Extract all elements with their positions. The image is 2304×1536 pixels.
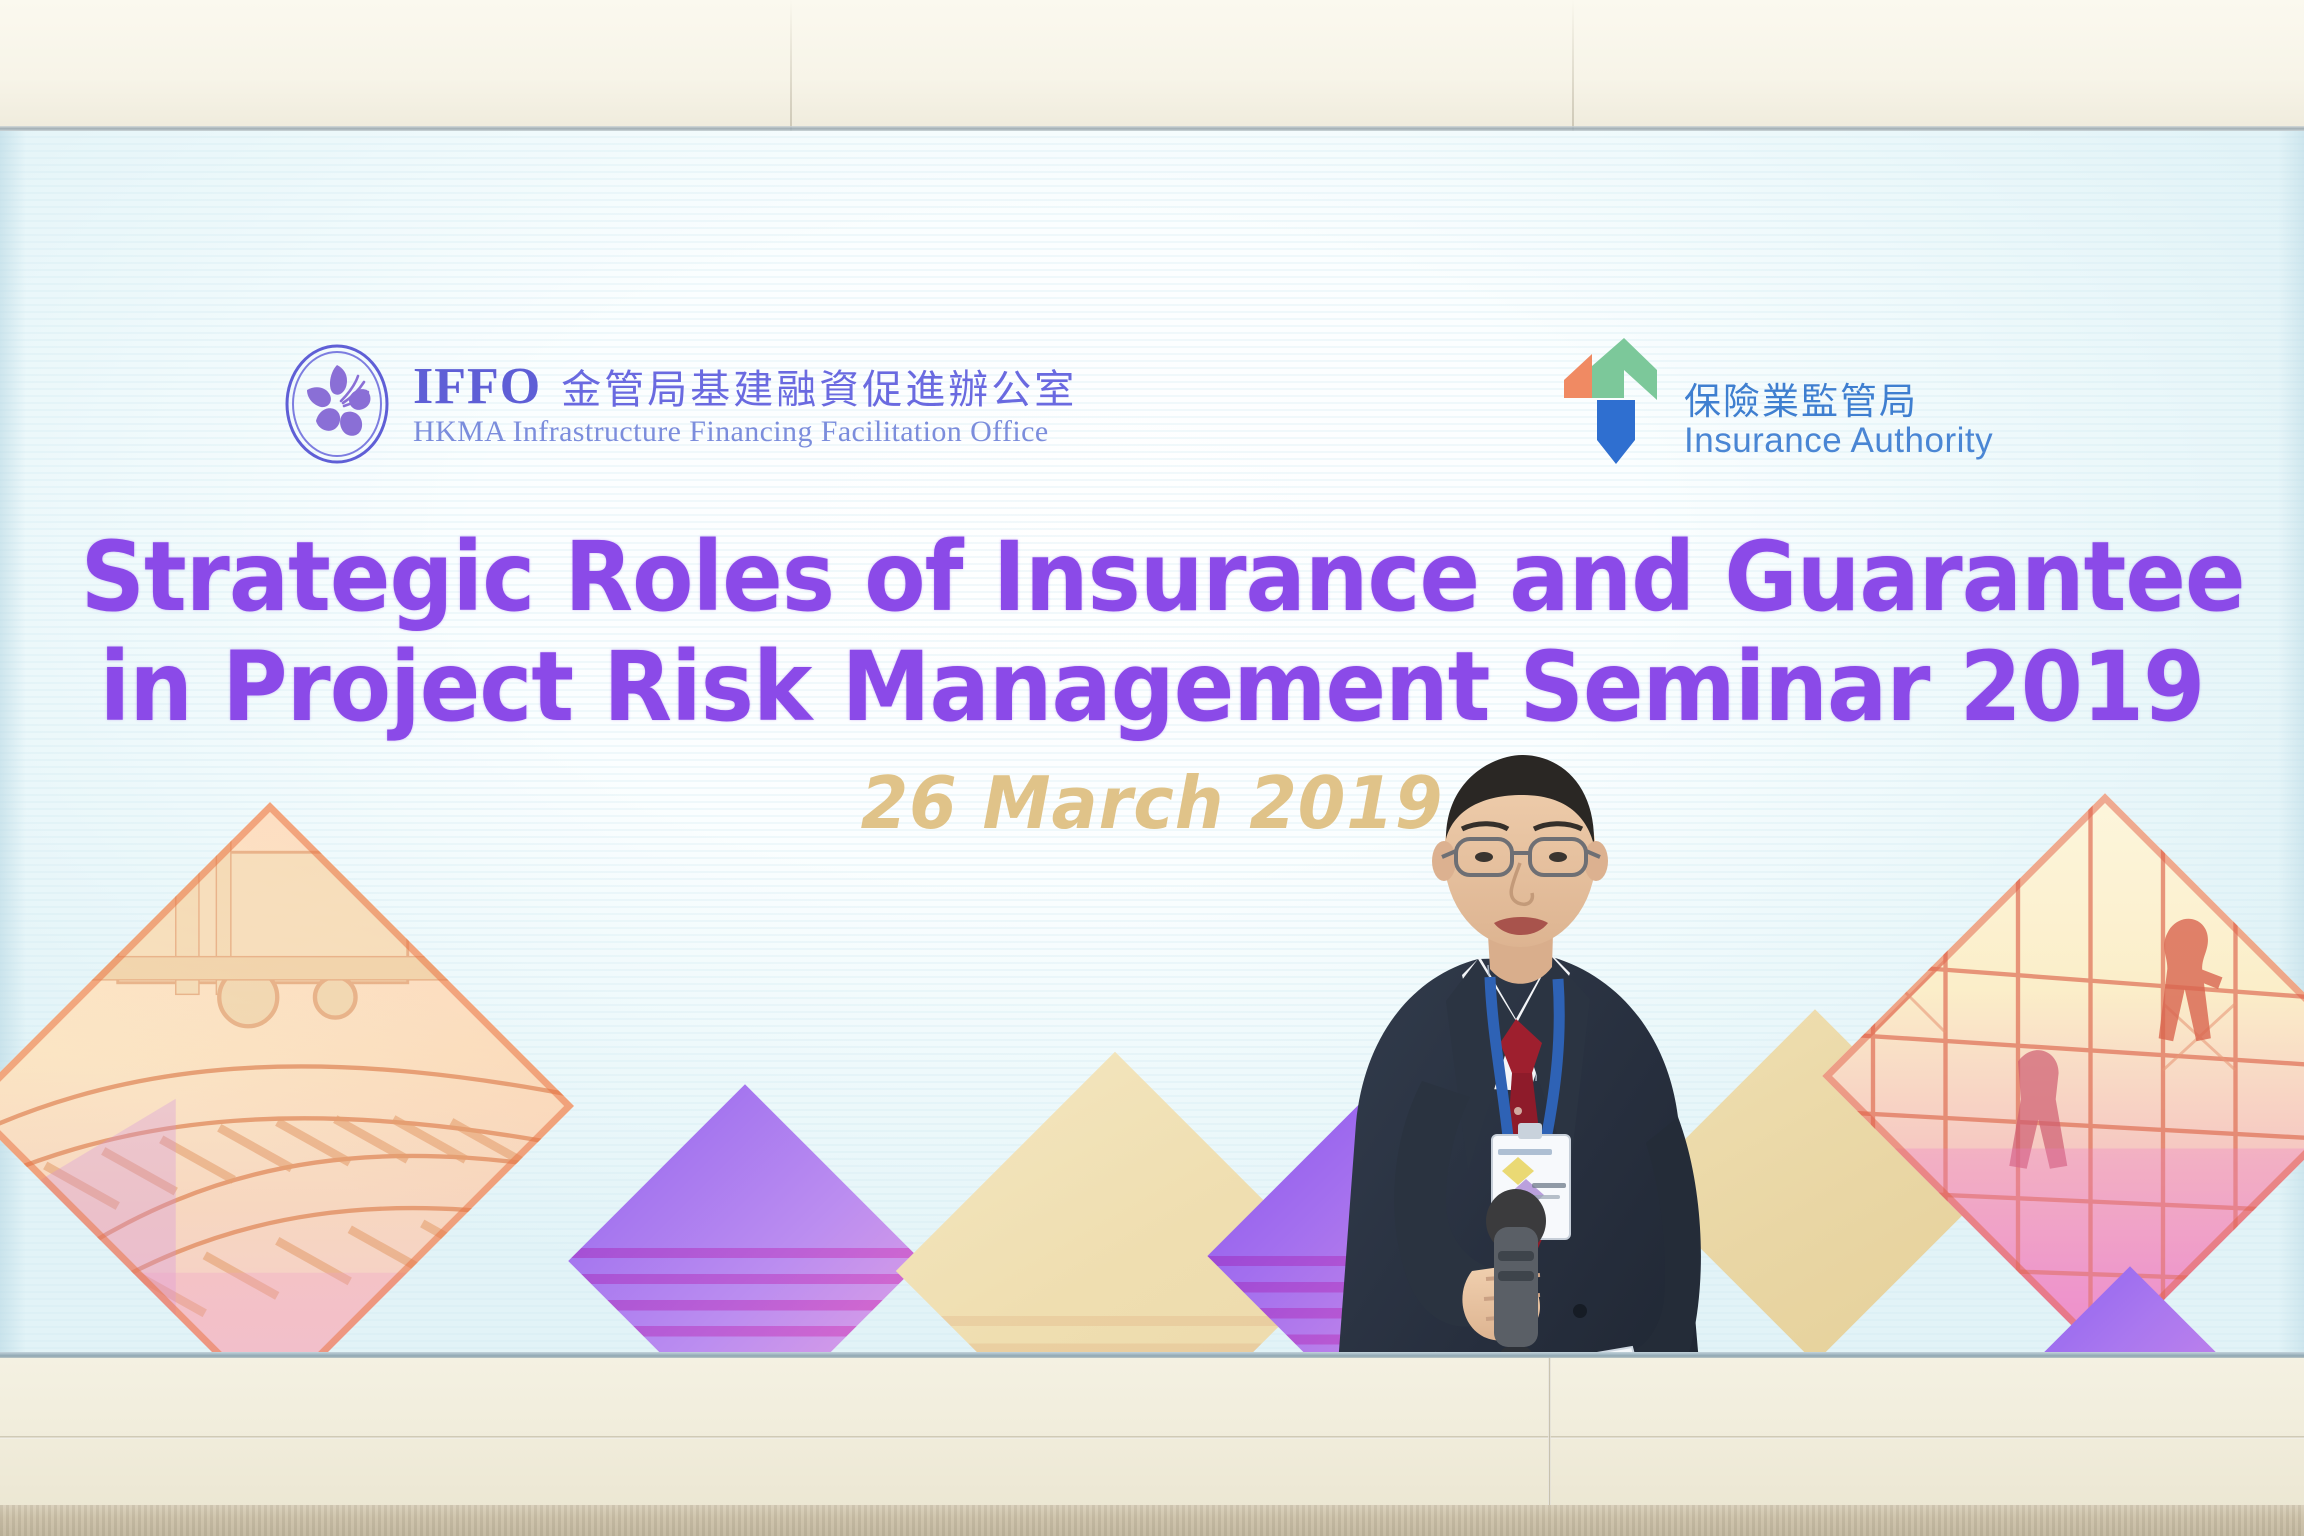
iffo-abbreviation: IFFO bbox=[413, 361, 541, 413]
seminar-title-line-2: in Project Risk Management Seminar 2019 bbox=[81, 639, 2224, 737]
logo-iffo: IFFO 金管局基建融資促進辦公室 HKMA Infrastructure Fi… bbox=[283, 343, 1077, 465]
arrow-mark-icon bbox=[1562, 336, 1670, 466]
speaker bbox=[1280, 751, 1700, 1358]
diamond-railway-photo bbox=[0, 802, 574, 1358]
seminar-title-line-1: Strategic Roles of Insurance and Guarant… bbox=[81, 529, 2224, 627]
seminar-date: 26 March 2019 bbox=[58, 761, 2247, 845]
iffo-english-name: HKMA Infrastructure Financing Facilitati… bbox=[413, 415, 1077, 448]
speaker-figure bbox=[1240, 751, 1760, 1358]
suit-button bbox=[1573, 1304, 1587, 1318]
floor-carpet bbox=[0, 1505, 2304, 1536]
microphone-icon bbox=[1486, 1189, 1546, 1358]
stage-panel-groove bbox=[0, 1436, 2304, 1439]
backdrop-content: IFFO 金管局基建融資促進辦公室 HKMA Infrastructure Fi… bbox=[0, 131, 2304, 1358]
diamond-purple-striped-3 bbox=[1960, 1266, 2299, 1358]
seminar-title-block: Strategic Roles of Insurance and Guarant… bbox=[0, 529, 2304, 845]
bauhinia-emblem-icon bbox=[283, 343, 391, 465]
logo-insurance-authority: 保險業監管局 Insurance Authority bbox=[1562, 336, 1993, 466]
ear-left bbox=[1432, 841, 1456, 881]
ia-english-name: Insurance Authority bbox=[1684, 422, 1993, 461]
wall-top bbox=[0, 0, 2304, 131]
screenshot-root: IFFO 金管局基建融資促進辦公室 HKMA Infrastructure Fi… bbox=[0, 0, 2304, 1536]
stage-platform bbox=[0, 1358, 2304, 1508]
wall-seam bbox=[1572, 0, 1574, 131]
diamond-purple-striped-1 bbox=[568, 1084, 922, 1358]
stage-panel-seam bbox=[1548, 1358, 1551, 1508]
wall-seam bbox=[790, 0, 792, 131]
iffo-chinese-name: 金管局基建融資促進辦公室 bbox=[561, 370, 1077, 410]
ia-chinese-name: 保險業監管局 bbox=[1684, 383, 1993, 422]
